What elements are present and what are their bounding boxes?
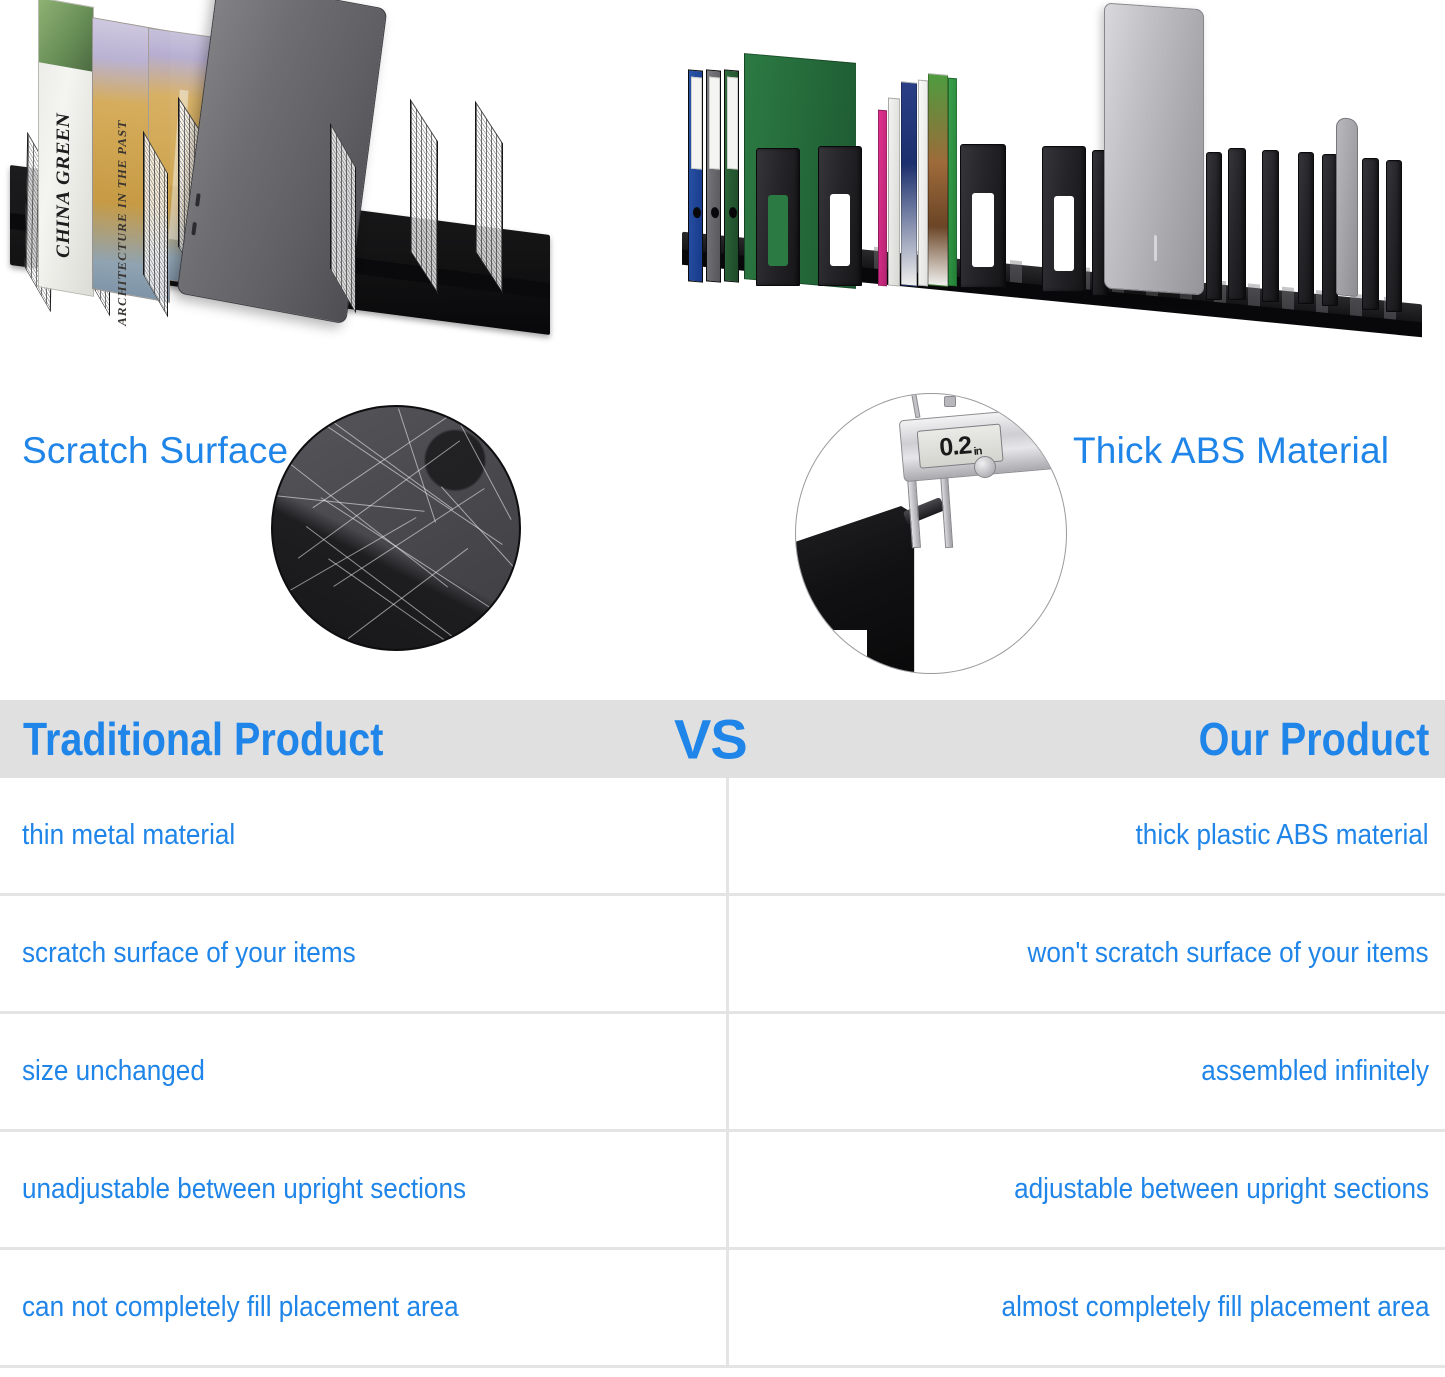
magazine [928,73,948,287]
cell-text: assembled infinitely [1201,1055,1429,1088]
grey-ring-binder [706,69,721,282]
comparison-table-header: Traditional Product Our Product VS [0,700,1445,778]
comparison-table: Traditional Product Our Product VS thin … [0,700,1445,1368]
cell-text: unadjustable between upright sections [22,1173,466,1206]
binder-label [727,77,738,170]
caliper-upper-jaw [909,393,921,418]
our-cell: won't scratch surface of your items [727,896,1445,1011]
our-cell: adjustable between upright sections [727,1132,1445,1247]
binder-label [709,77,720,170]
thick-abs-closeup: 0.2 in [795,393,1067,674]
green-ring-binder [724,69,739,282]
scratch-surface-label: Scratch Surface [22,430,288,472]
abs-divider [960,144,1006,288]
traditional-cell: can not completely fill placement area [0,1250,727,1365]
divider-cutout [972,193,993,267]
traditional-cell: unadjustable between upright sections [0,1132,727,1247]
our-cell: thick plastic ABS material [727,778,1445,893]
abs-divider [818,146,862,286]
our-cell: assembled infinitely [727,1014,1445,1129]
column-divider [726,778,729,1368]
magazine [888,97,900,286]
product-comparison-infographic: CHINA GREEN ARCHITECTURE IN THE PAST [0,0,1445,1377]
our-cell: almost completely fill placement area [727,1250,1445,1365]
cell-text: scratch surface of your items [22,937,356,970]
magazine [948,78,957,287]
book-china-green: CHINA GREEN [38,0,94,297]
cell-text: adjustable between upright sections [1014,1173,1429,1206]
traditional-cell: scratch surface of your items [0,896,727,1011]
table-row: can not completely fill placement area a… [0,1250,1445,1368]
silver-laptop [1104,3,1204,296]
binder-label [691,77,702,170]
thick-abs-material-label: Thick ABS Material [1073,430,1389,472]
traditional-product-title: Traditional Product [23,712,383,766]
divider-cutout [830,194,850,266]
book-spine-title: ARCHITECTURE IN THE PAST [115,118,130,327]
traditional-cell: thin metal material [0,778,727,893]
cell-text: thick plastic ABS material [1136,819,1429,852]
vs-badge: VS [674,707,747,772]
table-row: scratch surface of your items won't scra… [0,896,1445,1014]
comparison-table-body: thin metal material thick plastic ABS ma… [0,778,1445,1368]
header-cell-traditional: Traditional Product [0,712,727,766]
book-cover-art [39,0,93,72]
magazine [901,81,917,286]
magazine [918,80,928,287]
cell-text: thin metal material [22,819,235,852]
abs-divider [1298,152,1314,304]
feature-callout-row: Scratch Surface [0,390,1445,700]
blue-ring-binder [688,69,703,282]
table-row: thin metal material thick plastic ABS ma… [0,778,1445,896]
table-row: unadjustable between upright sections ad… [0,1132,1445,1250]
book-spine-title: CHINA GREEN [53,111,75,260]
abs-divider [756,148,800,286]
cell-text: can not completely fill placement area [22,1291,459,1324]
abs-divider [1228,148,1246,300]
binder-hole [693,207,701,219]
table-row: size unchanged assembled infinitely [0,1014,1445,1132]
caliper-reading: 0.2 [938,431,972,463]
caliper-thumb-screw [944,396,956,407]
product-photo-row: CHINA GREEN ARCHITECTURE IN THE PAST [0,0,1445,390]
abs-plastic-corner [795,506,998,674]
divider-cutout [768,195,788,266]
traditional-product-photo: CHINA GREEN ARCHITECTURE IN THE PAST [0,0,600,340]
our-product-title: Our Product [1198,712,1429,766]
binder-hole [729,207,737,219]
caliper-roller-knob [974,456,996,478]
abs-divider [1386,160,1402,312]
traditional-cell: size unchanged [0,1014,727,1129]
scratch-surface-closeup [271,405,521,651]
cell-text: won't scratch surface of your items [1028,937,1429,970]
abs-divider [1206,152,1222,300]
magazine [878,110,887,287]
abs-divider [1362,158,1379,310]
header-cell-ours: Our Product [727,712,1445,766]
tablet [1336,117,1358,297]
cell-text: size unchanged [22,1055,205,1088]
cell-text: almost completely fill placement area [1001,1291,1429,1324]
divider-cutout [1054,196,1074,271]
binder-hole [711,207,719,219]
abs-divider [1042,146,1086,292]
abs-divider [1262,150,1279,302]
our-product-photo [672,0,1445,380]
